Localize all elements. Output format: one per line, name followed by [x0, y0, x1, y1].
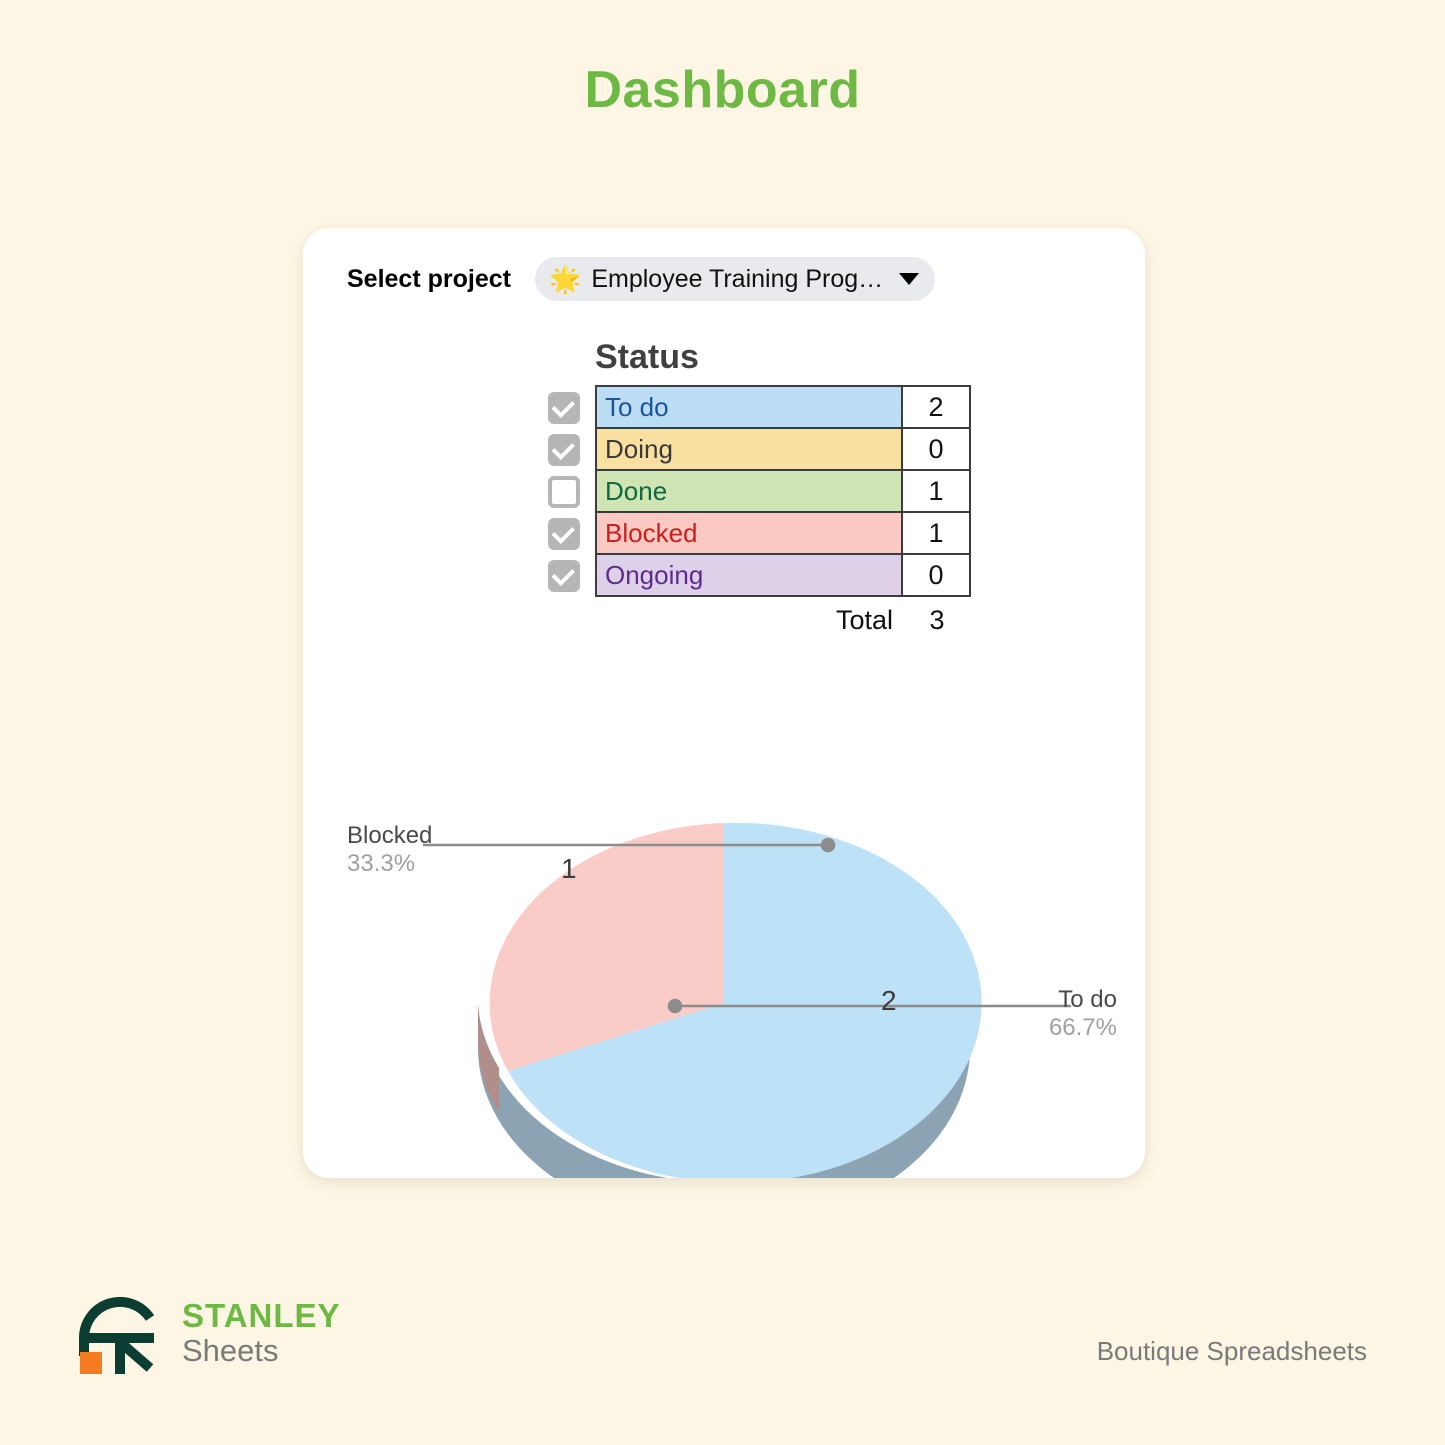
status-count-done: 1: [902, 470, 970, 512]
status-count-todo: 2: [902, 386, 970, 428]
status-heading: Status: [595, 338, 971, 377]
status-name-blocked: Blocked: [596, 512, 902, 554]
pie-callout-todo: To do 66.7%: [1049, 986, 1117, 1043]
dashboard-card: Select project 🌟 Employee Training Prog……: [303, 228, 1145, 1178]
table-row[interactable]: To do 2: [596, 386, 970, 428]
checkbox-blocked[interactable]: [548, 518, 580, 550]
pie-callout-todo-name: To do: [1058, 986, 1117, 1013]
status-checkbox-column: [533, 385, 595, 597]
project-dropdown-value: Employee Training Prog…: [591, 265, 883, 294]
checkbox-cell: [533, 387, 595, 429]
status-grid: To do 2 Doing 0 Done 1 Blocked 1 Ongoing: [595, 385, 971, 597]
pie-value-blocked: 1: [561, 853, 577, 885]
checkbox-cell: [533, 429, 595, 471]
brand-name-primary: STANLEY: [182, 1299, 341, 1332]
brand-logo: STANLEY Sheets: [74, 1286, 341, 1378]
footer-tagline: Boutique Spreadsheets: [1097, 1336, 1367, 1367]
checkbox-cell: [533, 555, 595, 597]
status-count-doing: 0: [902, 428, 970, 470]
status-block: Status: [533, 338, 971, 636]
select-project-row: Select project 🌟 Employee Training Prog…: [347, 257, 935, 301]
orange-square-icon: [80, 1352, 102, 1374]
checkbox-doing[interactable]: [548, 434, 580, 466]
status-name-done: Done: [596, 470, 902, 512]
checkbox-ongoing[interactable]: [548, 560, 580, 592]
pie-chart-svg: [303, 748, 1145, 1178]
total-value: 3: [903, 605, 971, 636]
status-name-todo: To do: [596, 386, 902, 428]
table-row[interactable]: Done 1: [596, 470, 970, 512]
checkbox-cell: [533, 471, 595, 513]
pie-callout-blocked-percent: 33.3%: [347, 850, 432, 878]
stanley-arc-logo-icon: [74, 1286, 166, 1378]
table-row[interactable]: Doing 0: [596, 428, 970, 470]
status-name-ongoing: Ongoing: [596, 554, 902, 596]
status-count-blocked: 1: [902, 512, 970, 554]
table-row[interactable]: Blocked 1: [596, 512, 970, 554]
status-total-row: Total 3: [533, 605, 971, 636]
pie-callout-blocked: Blocked 33.3%: [347, 822, 432, 879]
chevron-down-icon[interactable]: [899, 273, 919, 285]
total-label: Total: [597, 605, 903, 636]
status-pie-chart: Blocked 33.3% To do 66.7% 1 2: [303, 748, 1145, 1178]
table-row[interactable]: Ongoing 0: [596, 554, 970, 596]
brand-wordmark: STANLEY Sheets: [182, 1299, 341, 1366]
project-dropdown[interactable]: 🌟 Employee Training Prog…: [535, 257, 935, 301]
checkbox-cell: [533, 513, 595, 555]
status-table: To do 2 Doing 0 Done 1 Blocked 1 Ongoing: [533, 385, 971, 597]
brand-name-secondary: Sheets: [182, 1335, 341, 1366]
checkbox-todo[interactable]: [548, 392, 580, 424]
pie-callout-todo-percent: 66.7%: [1049, 1014, 1117, 1042]
page-title: Dashboard: [0, 60, 1445, 120]
pie-callout-blocked-name: Blocked: [347, 822, 432, 849]
status-name-doing: Doing: [596, 428, 902, 470]
select-project-label: Select project: [347, 265, 511, 294]
checkbox-done[interactable]: [548, 476, 580, 508]
star-icon: 🌟: [549, 266, 581, 292]
status-count-ongoing: 0: [902, 554, 970, 596]
pie-value-todo: 2: [881, 985, 897, 1017]
